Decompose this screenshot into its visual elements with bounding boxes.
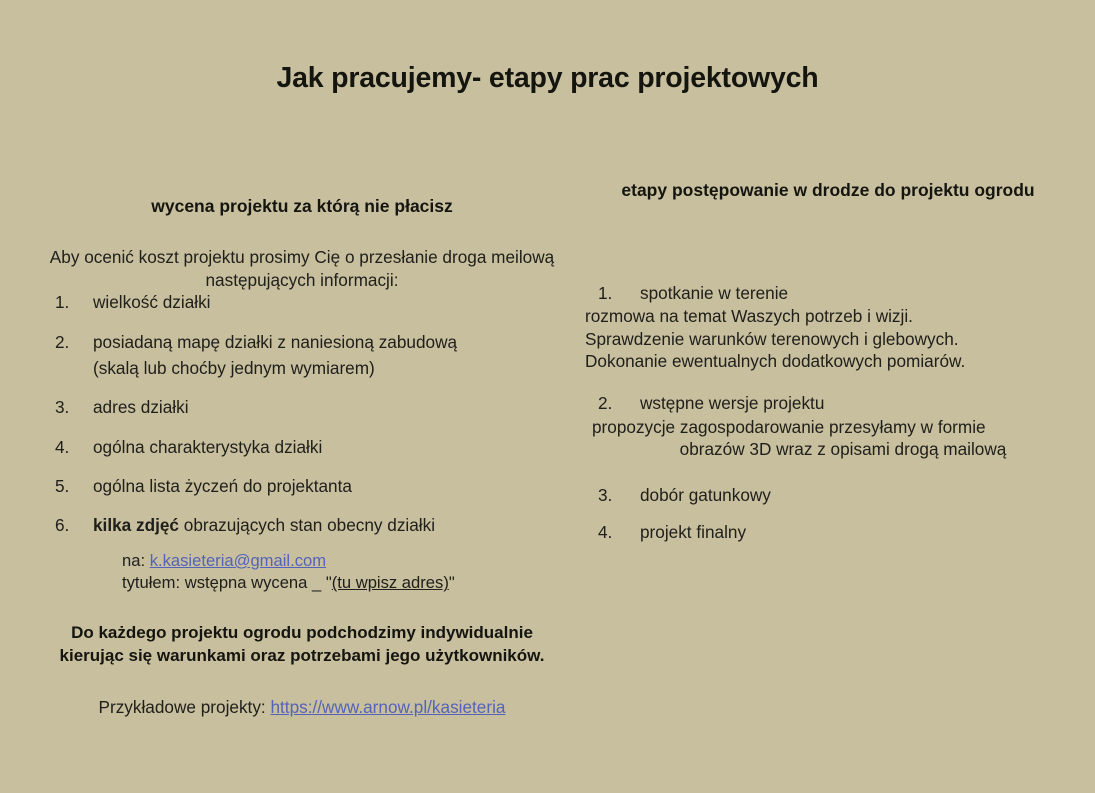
- step-description-line: Dokonanie ewentualnych dodatkowych pomia…: [578, 350, 1078, 372]
- contact-block: na: k.kasieteria@gmail.com tytułem: wstę…: [26, 550, 578, 594]
- contact-email-line: na: k.kasieteria@gmail.com: [122, 550, 578, 572]
- contact-subject-placeholder: (tu wpisz adres): [332, 573, 449, 592]
- list-item: 3. adres działki: [26, 396, 578, 418]
- list-item: 4. projekt finalny: [578, 521, 1078, 543]
- list-item: 1. wielkość działki: [26, 291, 578, 313]
- step-title: wstępne wersje projektu: [640, 392, 1078, 414]
- email-link[interactable]: k.kasieteria@gmail.com: [150, 551, 326, 570]
- step-description: rozmowa na temat Waszych potrzeb i wizji…: [578, 305, 1078, 372]
- list-item-emphasis: kilka zdjęć: [93, 515, 179, 535]
- left-column: wycena projektu za którą nie płacisz Aby…: [26, 196, 578, 718]
- list-item: 4. ogólna charakterystyka działki: [26, 436, 578, 458]
- step-description-line: rozmowa na temat Waszych potrzeb i wizji…: [578, 305, 1078, 327]
- list-marker: 2.: [598, 392, 640, 414]
- left-column-heading: wycena projektu za którą nie płacisz: [26, 196, 578, 218]
- step-description-line: Sprawdzenie warunków terenowych i glebow…: [578, 328, 1078, 350]
- right-column: etapy postępowanie w drodze do projektu …: [578, 180, 1078, 557]
- list-marker: 3.: [55, 396, 93, 418]
- list-item-text: posiadaną mapę działki z naniesioną zabu…: [93, 331, 578, 380]
- examples-label: Przykładowe projekty:: [99, 697, 271, 717]
- list-item: 2. wstępne wersje projektu propozycje za…: [578, 392, 1078, 460]
- list-marker: 4.: [598, 521, 640, 543]
- list-item-subtext: (skalą lub choćby jednym wymiarem): [93, 357, 578, 379]
- tagline-line-1: Do każdego projektu ogrodu podchodzimy i…: [26, 622, 578, 645]
- step-header: 3. dobór gatunkowy: [578, 484, 1078, 506]
- portfolio-link[interactable]: https://www.arnow.pl/kasieteria: [270, 697, 505, 717]
- list-marker: 5.: [55, 475, 93, 497]
- list-item-text: wielkość działki: [93, 291, 578, 313]
- contact-subject-line: tytułem: wstępna wycena _ "(tu wpisz adr…: [122, 572, 578, 594]
- list-item-text: kilka zdjęć obrazujących stan obecny dzi…: [93, 514, 578, 536]
- process-steps-list: 1. spotkanie w terenie rozmowa na temat …: [578, 282, 1078, 543]
- contact-subject-suffix: ": [449, 573, 455, 592]
- presentation-slide: Jak pracujemy- etapy prac projektowych w…: [0, 0, 1095, 793]
- step-description-line: propozycje zagospodarowanie przesyłamy w…: [578, 416, 1078, 438]
- list-item-text: ogólna lista życzeń do projektanta: [93, 475, 578, 497]
- step-title: spotkanie w terenie: [640, 282, 1078, 304]
- list-item: 1. spotkanie w terenie rozmowa na temat …: [578, 282, 1078, 372]
- contact-email-prefix: na:: [122, 551, 150, 570]
- list-marker: 2.: [55, 331, 93, 353]
- requirements-list: 1. wielkość działki 2. posiadaną mapę dz…: [26, 291, 578, 537]
- page-title: Jak pracujemy- etapy prac projektowych: [0, 62, 1095, 95]
- step-header: 1. spotkanie w terenie: [578, 282, 1078, 304]
- step-description-line: obrazów 3D wraz z opisami drogą mailową: [578, 438, 1078, 460]
- step-header: 2. wstępne wersje projektu: [578, 392, 1078, 414]
- list-item-rest: obrazujących stan obecny działki: [179, 515, 435, 535]
- list-item-text: ogólna charakterystyka działki: [93, 436, 578, 458]
- tagline: Do każdego projektu ogrodu podchodzimy i…: [26, 622, 578, 667]
- step-description: propozycje zagospodarowanie przesyłamy w…: [578, 416, 1078, 461]
- examples-line: Przykładowe projekty: https://www.arnow.…: [26, 697, 578, 718]
- list-item: 6. kilka zdjęć obrazujących stan obecny …: [26, 514, 578, 536]
- list-marker: 3.: [598, 484, 640, 506]
- step-title: dobór gatunkowy: [640, 484, 1078, 506]
- list-item-text: adres działki: [93, 396, 578, 418]
- contact-subject-prefix: tytułem: wstępna wycena _ ": [122, 573, 332, 592]
- step-header: 4. projekt finalny: [578, 521, 1078, 543]
- list-marker: 1.: [598, 282, 640, 304]
- list-marker: 4.: [55, 436, 93, 458]
- tagline-line-2: kierując się warunkami oraz potrzebami j…: [26, 645, 578, 668]
- left-column-intro: Aby ocenić koszt projektu prosimy Cię o …: [26, 246, 578, 291]
- step-title: projekt finalny: [640, 521, 1078, 543]
- right-column-heading: etapy postępowanie w drodze do projektu …: [578, 180, 1078, 202]
- list-item: 3. dobór gatunkowy: [578, 484, 1078, 506]
- list-item: 2. posiadaną mapę działki z naniesioną z…: [26, 331, 578, 380]
- list-item-main: posiadaną mapę działki z naniesioną zabu…: [93, 332, 457, 352]
- list-item: 5. ogólna lista życzeń do projektanta: [26, 475, 578, 497]
- list-marker: 6.: [55, 514, 93, 536]
- list-marker: 1.: [55, 291, 93, 313]
